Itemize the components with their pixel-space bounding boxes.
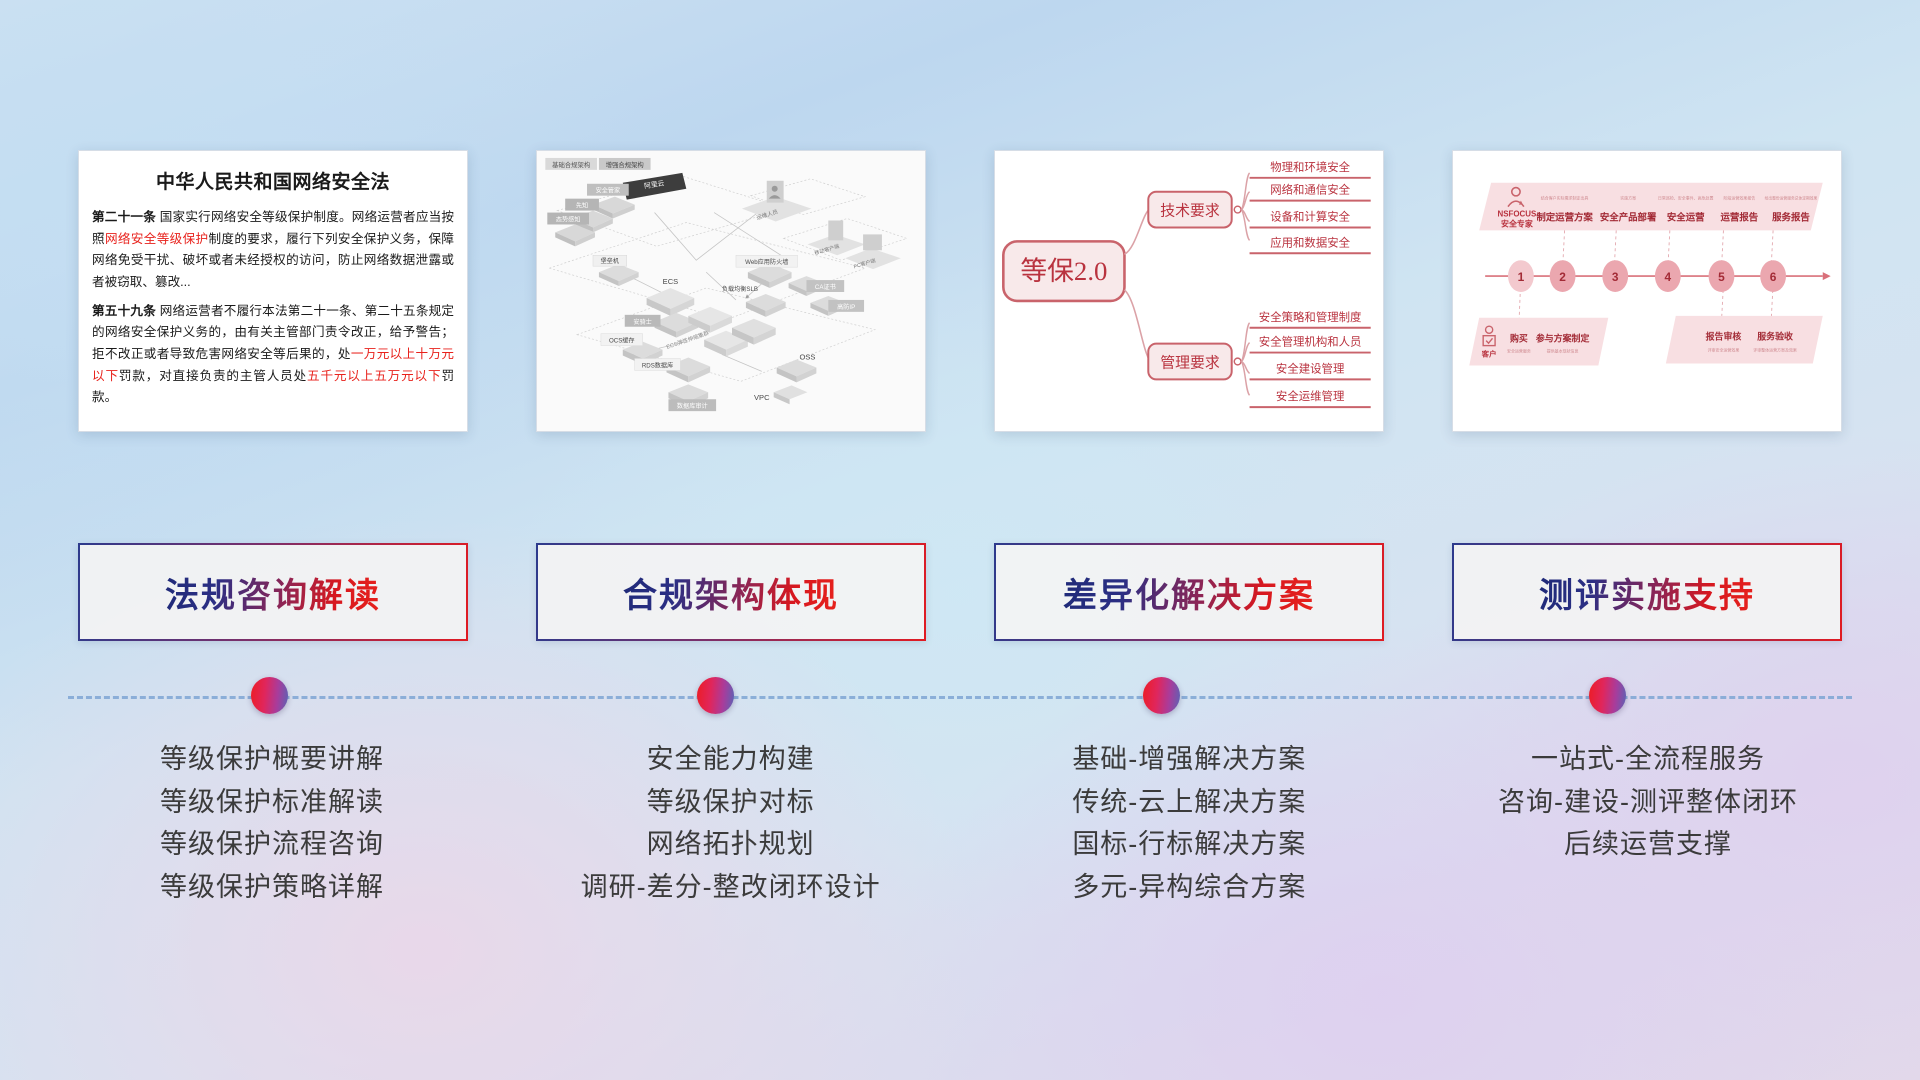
- arch-label-taishiganzhi: 态势感知: [556, 215, 581, 223]
- law-article-21: 第二十一条 国家实行网络安全等级保护制度。网络运营者应当按照网络安全等级保护制度…: [92, 207, 454, 294]
- list-item: 传统-云上解决方案: [969, 781, 1409, 824]
- list-item: 网络拓扑规划: [511, 823, 951, 866]
- law-article-59-highlight-2: 五千元以上五万元以下: [307, 369, 441, 383]
- mindmap-root-node: 等保2.0: [1003, 241, 1124, 301]
- card-nsfocus-timeline[interactable]: NSFOCUS 安全专家 结合客户实际需求制定出具 制定运营方案 实施方案 安全…: [1452, 150, 1842, 432]
- section-title-box-3[interactable]: 差异化解决方案: [994, 543, 1384, 641]
- list-item: 安全能力构建: [511, 738, 951, 781]
- mindmap-collapse-toggle-technical[interactable]: [1234, 206, 1241, 213]
- law-article-59-label: 第五十九条: [92, 304, 156, 318]
- law-article-59-text-2: 罚款，对直接负责的主管人员处: [119, 369, 307, 383]
- list-item: 后续运营支撑: [1428, 823, 1868, 866]
- nsfocus-top-caption-1: 结合客户实际需求制定出具: [1541, 196, 1589, 201]
- mindmap-leaf-org: 安全管理机构和人员: [1259, 335, 1362, 349]
- section-items-col-4: 一站式-全流程服务 咨询-建设-测评整体闭环 后续运营支撑: [1428, 738, 1868, 909]
- nsfocus-step-number-4: 4: [1665, 270, 1672, 284]
- nsfocus-top-title-2: 安全产品部署: [1600, 212, 1657, 223]
- arch-label-baoleiji: 堡垒机: [601, 257, 619, 265]
- nsfocus-top-caption-2: 实施方案: [1620, 196, 1636, 201]
- mindmap-leaf-ops: 安全运维管理: [1276, 389, 1345, 403]
- arch-label-slb: 负载均衡SLB: [722, 285, 758, 293]
- list-item: 一站式-全流程服务: [1428, 738, 1868, 781]
- card-cloud-architecture[interactable]: 基础合规架构 增强合规架构: [536, 150, 926, 432]
- section-items-col-2: 安全能力构建 等级保护对标 网络拓扑规划 调研-差分-整改闭环设计: [511, 738, 951, 909]
- arch-label-anquanguanjia: 安全管家: [596, 187, 621, 195]
- list-item: 等级保护流程咨询: [52, 823, 492, 866]
- arch-label-ecs: ECS: [663, 277, 679, 286]
- arch-label-ca: CA证书: [815, 283, 836, 291]
- list-item: 基础-增强解决方案: [969, 738, 1409, 781]
- section-title-label-1: 法规咨询解读: [165, 568, 381, 617]
- arch-label-oss: OSS: [800, 353, 816, 362]
- law-card-title: 中华人民共和国网络安全法: [79, 167, 467, 194]
- nsfocus-bottom-caption-4: 评审整体运营方案及效果: [1753, 348, 1797, 353]
- nsfocus-expert-role: 安全专家: [1501, 218, 1533, 228]
- list-item: 调研-差分-整改闭环设计: [511, 866, 951, 909]
- nsfocus-bottom-caption-1: 安全运营服务: [1507, 349, 1531, 354]
- section-items-row: 等级保护概要讲解 等级保护标准解读 等级保护流程咨询 等级保护策略详解 安全能力…: [0, 738, 1920, 909]
- law-article-21-label: 第二十一条: [92, 210, 156, 224]
- list-item: 咨询-建设-测评整体闭环: [1428, 781, 1868, 824]
- nsfocus-expert-brand: NSFOCUS: [1498, 210, 1537, 219]
- mindmap-leaf-physical: 物理和环境安全: [1270, 160, 1350, 174]
- arch-label-rds: RDS数据库: [642, 361, 673, 369]
- list-item: 国标-行标解决方案: [969, 823, 1409, 866]
- nsfocus-service-timeline: NSFOCUS 安全专家 结合客户实际需求制定出具 制定运营方案 实施方案 安全…: [1453, 151, 1841, 431]
- card-cybersecurity-law[interactable]: 中华人民共和国网络安全法 第二十一条 国家实行网络安全等级保护制度。网络运营者应…: [78, 150, 468, 432]
- mindmap-leaf-network: 网络和通信安全: [1270, 183, 1350, 197]
- arch-label-dbaudit: 数据库审计: [677, 402, 708, 410]
- preview-cards-row: 中华人民共和国网络安全法 第二十一条 国家实行网络安全等级保护制度。网络运营者应…: [0, 150, 1920, 450]
- mindmap-leaf-policy: 安全策略和管理制度: [1259, 310, 1362, 324]
- law-article-21-highlight: 网络安全等级保护: [105, 232, 209, 246]
- section-title-box-4[interactable]: 测评实施支持: [1452, 543, 1842, 641]
- list-item: 等级保护策略详解: [52, 866, 492, 909]
- nsfocus-top-title-5: 服务报告: [1772, 212, 1810, 223]
- nsfocus-step-number-1: 1: [1518, 270, 1525, 284]
- arch-tab-enhanced[interactable]: 增强合规架构: [606, 160, 644, 169]
- section-items-col-1: 等级保护概要讲解 等级保护标准解读 等级保护流程咨询 等级保护策略详解: [52, 738, 492, 909]
- nsfocus-top-title-1: 制定运营方案: [1536, 212, 1593, 223]
- section-title-label-4: 测评实施支持: [1539, 568, 1755, 617]
- nsfocus-step-number-6: 6: [1770, 270, 1777, 284]
- arch-label-waf: Web应用防火墙: [745, 258, 788, 266]
- mindmap-collapse-toggle-management[interactable]: [1234, 358, 1241, 365]
- nsfocus-step-number-3: 3: [1612, 270, 1619, 284]
- cloud-architecture-diagram: 基础合规架构 增强合规架构: [537, 151, 925, 431]
- nsfocus-top-caption-3: 日常巡检、安全事件、高危处置: [1658, 196, 1714, 201]
- mindmap-branch-technical-label: 技术要求: [1160, 203, 1220, 220]
- list-item: 多元-异构综合方案: [969, 866, 1409, 909]
- section-titles-row: 法规咨询解读 合规架构体现 差异化解决方案 测评实施支持: [0, 543, 1920, 641]
- mindmap-leaf-application: 应用和数据安全: [1270, 235, 1350, 249]
- law-card-body: 第二十一条 国家实行网络安全等级保护制度。网络运营者应当按照网络安全等级保护制度…: [79, 207, 467, 409]
- list-item: 等级保护概要讲解: [52, 738, 492, 781]
- mindmap-branch-management-label: 管理要求: [1160, 354, 1220, 371]
- section-title-box-2[interactable]: 合规架构体现: [536, 543, 926, 641]
- section-title-box-1[interactable]: 法规咨询解读: [78, 543, 468, 641]
- nsfocus-bottom-title-1: 购买: [1510, 333, 1528, 344]
- nsfocus-customer-role: 客户: [1481, 349, 1497, 359]
- dengbao-mindmap: 等保2.0 技术要求 物理和环境安全: [995, 151, 1383, 431]
- nsfocus-top-title-4: 运营报告: [1720, 212, 1758, 223]
- nsfocus-top-title-3: 安全运营: [1667, 212, 1705, 223]
- nsfocus-top-caption-5: 给出整份运营服务总体定期效果: [1765, 196, 1818, 201]
- mindmap-leaf-construction: 安全建设管理: [1276, 361, 1345, 375]
- nsfocus-review-band: [1666, 316, 1823, 364]
- nsfocus-bottom-caption-3: 评审安全运营效果: [1708, 348, 1740, 353]
- mindmap-leaf-device: 设备和计算安全: [1270, 210, 1350, 224]
- arch-label-ocs: OCS缓存: [609, 337, 635, 345]
- arch-label-vpc: VPC: [754, 393, 770, 402]
- nsfocus-bottom-caption-2: 提供基本现状信息: [1547, 349, 1579, 354]
- section-items-col-3: 基础-增强解决方案 传统-云上解决方案 国标-行标解决方案 多元-异构综合方案: [969, 738, 1409, 909]
- arch-label-xianzhi: 先知: [576, 202, 588, 210]
- nsfocus-bottom-title-3: 报告审核: [1706, 331, 1742, 342]
- arch-label-gfip: 高防IP: [837, 303, 855, 311]
- section-title-label-3: 差异化解决方案: [1063, 568, 1315, 617]
- arch-tab-basic[interactable]: 基础合规架构: [552, 160, 590, 169]
- mindmap-root-label: 等保2.0: [1020, 256, 1107, 286]
- list-item: 等级保护标准解读: [52, 781, 492, 824]
- timeline-dashed-line: [68, 696, 1852, 700]
- arch-label-anqishi: 安骑士: [633, 318, 651, 326]
- nsfocus-step-number-5: 5: [1718, 270, 1725, 284]
- nsfocus-top-caption-4: 阶段运营效果报告: [1723, 196, 1755, 201]
- nsfocus-step-number-2: 2: [1559, 270, 1566, 284]
- nsfocus-bottom-title-4: 服务验收: [1757, 331, 1793, 342]
- card-mindmap-dengbao[interactable]: 等保2.0 技术要求 物理和环境安全: [994, 150, 1384, 432]
- list-item: 等级保护对标: [511, 781, 951, 824]
- section-title-label-2: 合规架构体现: [623, 568, 839, 617]
- nsfocus-bottom-title-2: 参与方案制定: [1536, 333, 1590, 344]
- law-article-59: 第五十九条 网络运营者不履行本法第二十一条、第二十五条规定的网络安全保护义务的，…: [92, 301, 454, 409]
